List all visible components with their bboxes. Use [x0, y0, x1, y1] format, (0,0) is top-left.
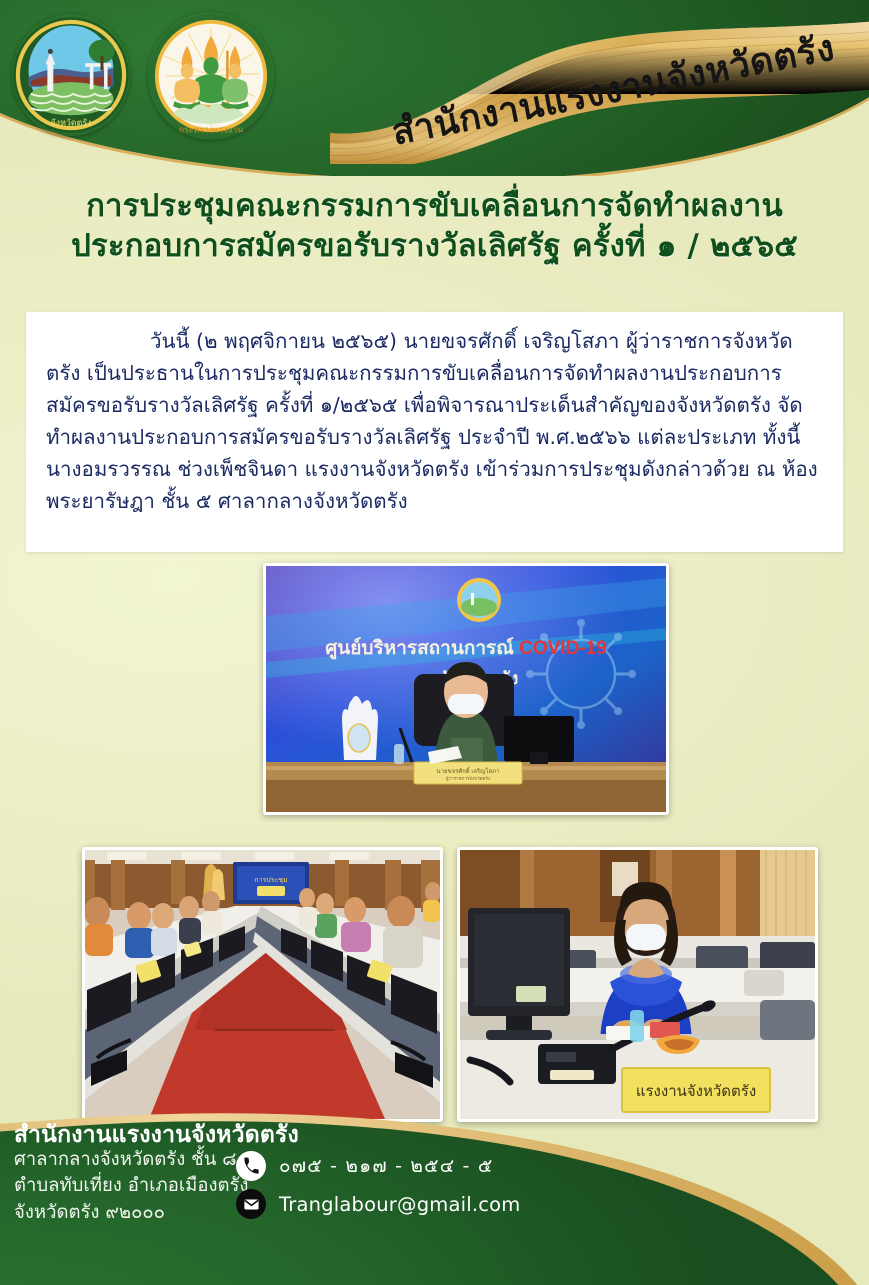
footer-address-line-1: ศาลากลางจังหวัดตรัง ชั้น ๘	[14, 1147, 248, 1173]
article-paragraph: วันนี้ (๒ พฤศจิกายน ๒๕๖๕) นายขจรศักดิ์ เ…	[46, 329, 818, 513]
email-icon	[236, 1189, 266, 1219]
phone-icon	[236, 1151, 266, 1181]
article-body-text: วันนี้ (๒ พฤศจิกายน ๒๕๖๕) นายขจรศักดิ์ เ…	[26, 312, 843, 528]
footer-address-line-3: จังหวัดตรัง ๙๒๐๐๐	[14, 1200, 248, 1226]
photo-labour-officer: แรงงานจังหวัดตรัง	[457, 847, 818, 1122]
svg-text:ศูนย์บริหารสถานการณ์ COVID-19: ศูนย์บริหารสถานการณ์ COVID-19	[325, 637, 607, 660]
photo-conference-room-attendees: การประชุม	[82, 847, 443, 1122]
footer-contact-bar: สำนักงานแรงงานจังหวัดตรัง ศาลากลางจังหวั…	[0, 1085, 869, 1285]
footer-address: ศาลากลางจังหวัดตรัง ชั้น ๘ ตำบลทับเที่ยง…	[14, 1147, 248, 1226]
gold-ribbon-shape: สำนักงานแรงงานจังหวัดตรัง	[330, 14, 869, 164]
header-banner-text: สำนักงานแรงงานจังหวัดตรัง	[386, 18, 838, 160]
footer-phone-row[interactable]: ๐๗๕ - ๒๑๗ - ๒๕๔ - ๕	[236, 1151, 493, 1181]
trang-province-seal-icon: จังหวัดตรัง	[12, 14, 130, 136]
header-banner-text-wrap: สำนักงานแรงงานจังหวัดตรัง	[330, 14, 869, 164]
footer-address-line-2: ตำบลทับเที่ยง อำเภอเมืองตรัง	[14, 1173, 248, 1199]
article-body-card: วันนี้ (๒ พฤศจิกายน ๒๕๖๕) นายขจรศักดิ์ เ…	[26, 312, 843, 552]
footer-phone-number: ๐๗๕ - ๒๑๗ - ๒๕๔ - ๕	[279, 1151, 493, 1181]
footer-email-address: Tranglabour@gmail.com	[279, 1193, 521, 1216]
page-title-line-1: การประชุมคณะกรรมการขับเคลื่อนการจัดทำผลง…	[0, 186, 869, 226]
svg-text:การประชุม: การประชุม	[254, 877, 287, 884]
footer-content: สำนักงานแรงงานจังหวัดตรัง ศาลากลางจังหวั…	[0, 1085, 869, 1285]
page-title-line-2: ประกอบการสมัครขอรับรางวัลเลิศรัฐ ครั้งที…	[0, 226, 869, 266]
svg-text:กระทรวงแรงงาน: กระทรวงแรงงาน	[179, 125, 244, 135]
poster-root: จังหวัดตรัง	[0, 0, 869, 1285]
svg-text:จังหวัดตรัง: จังหวัดตรัง	[51, 118, 92, 128]
ministry-of-labour-seal-icon: กระทรวงแรงงาน	[148, 12, 274, 140]
page-title: การประชุมคณะกรรมการขับเคลื่อนการจัดทำผลง…	[0, 186, 869, 267]
header-banner: จังหวัดตรัง	[0, 0, 869, 176]
footer-email-row[interactable]: Tranglabour@gmail.com	[236, 1189, 521, 1219]
photo-governor-covid-center: ศูนย์บริหารสถานการณ์ COVID-19 จังหวัดตรั…	[263, 563, 669, 815]
